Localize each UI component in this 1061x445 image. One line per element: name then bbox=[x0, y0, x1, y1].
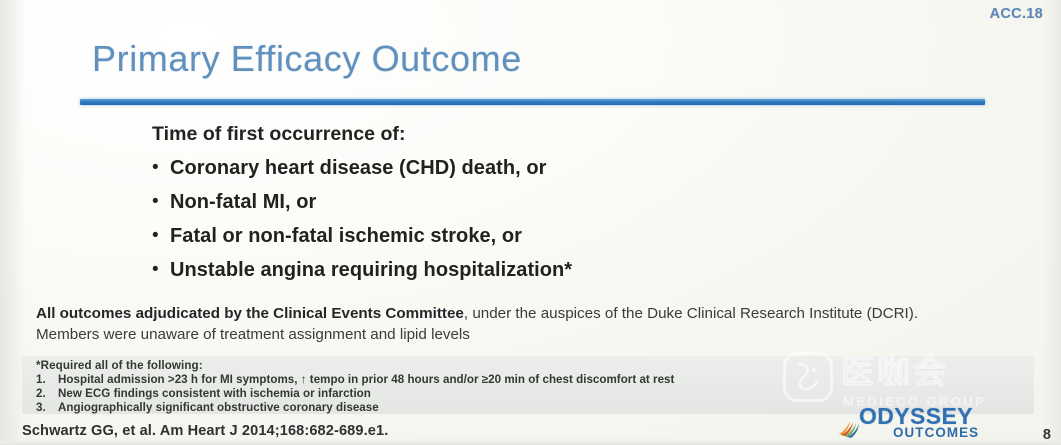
footnote-item-label: Hospital admission >23 h for MI symptoms… bbox=[58, 373, 674, 387]
bullet-dot-icon: • bbox=[152, 192, 170, 211]
bullet-dot-icon: • bbox=[152, 226, 170, 245]
list-item-label: Fatal or non-fatal ischemic stroke, or bbox=[170, 225, 522, 248]
footnote-item-number: 2. bbox=[36, 387, 58, 401]
list-item-label: Unstable angina requiring hospitalizatio… bbox=[170, 259, 572, 282]
presentation-slide: ACC.18 Primary Efficacy Outcome Time of … bbox=[0, 0, 1061, 445]
bottom-edge-shadow bbox=[0, 438, 1061, 445]
footnote-item: 1. Hospital admission >23 h for MI sympt… bbox=[36, 373, 936, 387]
adjudication-paragraph: All outcomes adjudicated by the Clinical… bbox=[36, 303, 966, 345]
title-underline-rule bbox=[80, 99, 985, 105]
list-item-label: Coronary heart disease (CHD) death, or bbox=[170, 157, 546, 180]
adjudication-bold-lead: All outcomes adjudicated by the Clinical… bbox=[36, 305, 464, 322]
footnote-item: 2. New ECG findings consistent with isch… bbox=[36, 387, 936, 401]
list-item: • Unstable angina requiring hospitalizat… bbox=[152, 259, 912, 282]
conference-tag: ACC.18 bbox=[990, 6, 1043, 22]
right-edge-vignette bbox=[1043, 0, 1061, 445]
primary-outcome-body: Time of first occurrence of: • Coronary … bbox=[152, 123, 912, 282]
footnote-item: 3. Angiographically significant obstruct… bbox=[36, 401, 936, 415]
odyssey-outcomes-logo: ODYSSEY OUTCOMES bbox=[837, 404, 1013, 442]
footnote-content: *Required all of the following: 1. Hospi… bbox=[36, 359, 936, 416]
bullet-dot-icon: • bbox=[152, 260, 170, 279]
footnote-item-number: 1. bbox=[36, 373, 58, 387]
lead-in-text: Time of first occurrence of: bbox=[152, 123, 912, 146]
list-item: • Non-fatal MI, or bbox=[152, 191, 912, 214]
list-item: • Coronary heart disease (CHD) death, or bbox=[152, 157, 912, 180]
footnote-title: *Required all of the following: bbox=[36, 359, 936, 372]
footnote-item-label: New ECG findings consistent with ischemi… bbox=[58, 387, 371, 401]
footnote-item-label: Angiographically significant obstructive… bbox=[58, 401, 379, 415]
bullet-dot-icon: • bbox=[152, 158, 170, 177]
list-item: • Fatal or non-fatal ischemic stroke, or bbox=[152, 225, 912, 248]
citation-reference: Schwartz GG, et al. Am Heart J 2014;168:… bbox=[22, 423, 388, 439]
page-title: Primary Efficacy Outcome bbox=[92, 38, 522, 80]
footnote-item-number: 3. bbox=[36, 401, 58, 415]
list-item-label: Non-fatal MI, or bbox=[170, 191, 316, 214]
